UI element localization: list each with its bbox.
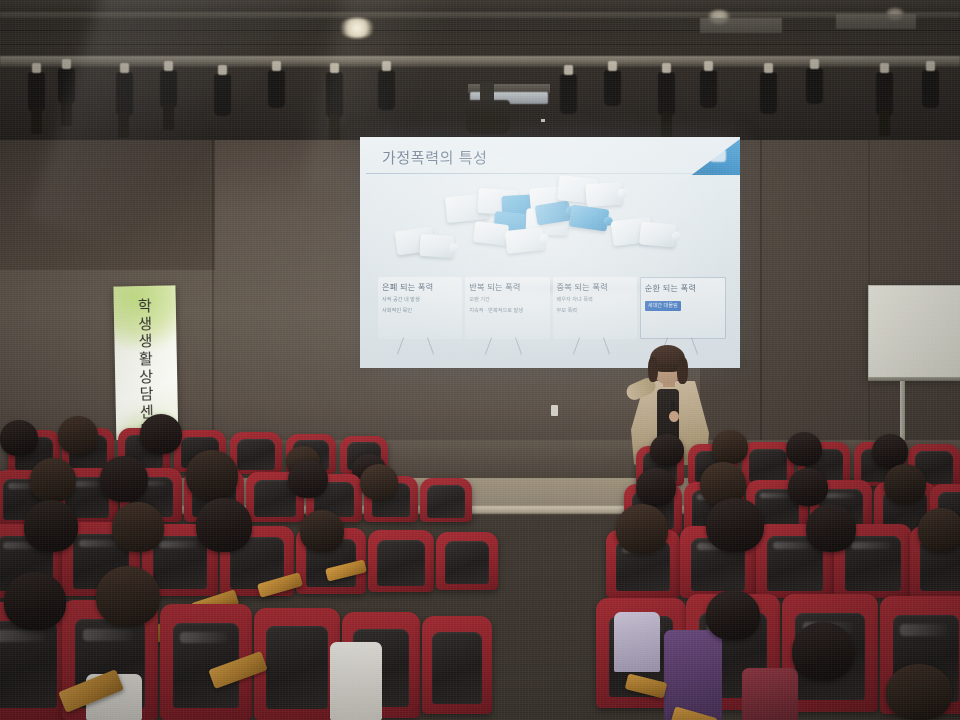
stage-light <box>922 70 939 108</box>
stage-light <box>28 72 45 112</box>
column-bullet: 오랜 기간 <box>469 297 546 305</box>
stage-light <box>116 72 133 116</box>
audience-head <box>918 508 960 552</box>
audience-head <box>30 458 76 502</box>
presentation-slide: 가정폭력의 특성 <box>360 137 740 368</box>
column-heading: 중복 되는 폭력 <box>557 281 634 293</box>
audience-head <box>0 420 38 456</box>
ceiling-rail-upper <box>0 12 960 19</box>
seat <box>230 432 282 474</box>
audience-head <box>788 468 828 506</box>
puzzle-graphic <box>390 173 710 273</box>
stage-light <box>560 74 577 114</box>
audience-head <box>884 464 926 504</box>
slide-accent-shape <box>678 139 740 175</box>
ceiling-light-panel <box>700 18 782 33</box>
column-bullet: 부모 폭력 <box>557 308 634 316</box>
audience-head <box>650 434 684 466</box>
audience-head <box>706 498 764 552</box>
seat <box>254 608 340 720</box>
seat <box>420 478 472 522</box>
column-bullet: 사회적인 묵인 <box>382 308 459 316</box>
ceiling-downlight <box>338 18 376 38</box>
audience-head <box>196 498 252 552</box>
stage-light <box>58 68 75 104</box>
audience-head <box>806 504 856 552</box>
audience-head <box>24 500 78 552</box>
stage-light <box>214 74 231 116</box>
auditorium-photo: 가정폭력의 특성 <box>0 0 960 720</box>
banner-char: 생 <box>114 315 176 334</box>
ceiling-light-panel <box>836 14 916 29</box>
audience-head <box>360 464 398 500</box>
column-bullet: 지속적 · 반복적으로 발생 <box>469 308 546 316</box>
column-highlight-badge: 세대간 대물림 <box>645 301 681 311</box>
audience-head <box>706 590 760 640</box>
column-heading: 순환 되는 폭력 <box>645 282 722 294</box>
audience-head <box>792 622 854 680</box>
stage-light <box>378 70 395 110</box>
seat <box>368 530 434 592</box>
audience-head <box>616 504 668 554</box>
audience-body <box>614 612 660 672</box>
slide-columns: 은폐 되는 폭력 사적 공간 내 발생 사회적인 묵인 반복 되는 폭력 오랜 … <box>378 277 726 339</box>
stage-light <box>806 68 823 104</box>
whiteboard-tray <box>868 377 960 381</box>
slide-title: 가정폭력의 특성 <box>382 147 488 168</box>
audience-head <box>58 416 98 454</box>
banner-char: 담 <box>115 386 177 405</box>
slide-column: 중복 되는 폭력 배우자 자녀 폭력 부모 폭력 <box>553 277 637 339</box>
stage-light <box>700 70 717 108</box>
stage-light <box>658 72 675 116</box>
audience-body <box>664 630 722 720</box>
stage-light <box>268 70 285 108</box>
seat <box>436 532 498 590</box>
audience-head <box>112 502 164 552</box>
column-heading: 은폐 되는 폭력 <box>382 281 459 293</box>
audience-body <box>742 668 798 720</box>
seat <box>422 616 492 714</box>
audience-head <box>636 468 676 506</box>
audience-head <box>886 664 952 720</box>
slide-column: 은폐 되는 폭력 사적 공간 내 발생 사회적인 묵인 <box>378 277 462 339</box>
audience-head <box>100 456 148 502</box>
audience-head <box>786 432 822 466</box>
stage-light <box>760 72 777 114</box>
audience-head <box>140 414 182 454</box>
projection-screen: 가정폭력의 특성 <box>360 137 740 368</box>
eyeglasses <box>656 365 679 371</box>
column-bullet: 배우자 자녀 폭력 <box>557 297 634 305</box>
audience-head <box>4 572 66 630</box>
slide-column: 반복 되는 폭력 오랜 기간 지속적 · 반복적으로 발생 <box>465 277 549 339</box>
audience-head <box>96 566 160 626</box>
audience-body <box>330 642 382 720</box>
stage-light <box>326 72 343 118</box>
audience-head <box>288 460 328 498</box>
banner-char: 상 <box>115 368 177 387</box>
slide-column: 순환 되는 폭력 세대간 대물림 <box>640 277 726 339</box>
audience-head <box>872 434 908 468</box>
projector-indicator-led <box>541 119 545 122</box>
audience-head <box>300 510 344 552</box>
stage-light <box>604 70 621 106</box>
banner-char: 학 <box>114 297 176 316</box>
ceiling-projector <box>466 100 510 134</box>
banner-char: 활 <box>115 350 177 369</box>
whiteboard <box>868 285 960 379</box>
banner-char: 생 <box>114 333 176 352</box>
audience-seating <box>0 412 960 720</box>
column-bullet: 사적 공간 내 발생 <box>382 297 459 305</box>
stage-light <box>160 70 177 108</box>
audience-head <box>712 430 748 464</box>
wall-panel-left <box>0 140 215 270</box>
audience-head <box>186 450 238 500</box>
column-heading: 반복 되는 폭력 <box>469 281 546 293</box>
